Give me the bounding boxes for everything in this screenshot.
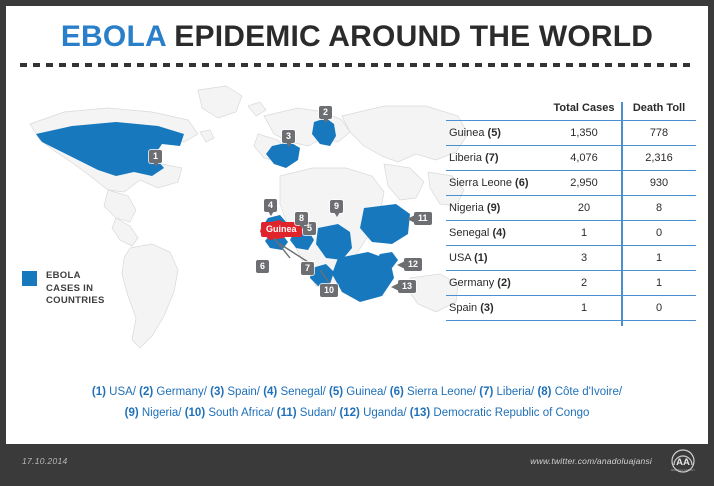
cell-total-cases: 2	[546, 271, 622, 296]
country-drc	[332, 252, 394, 302]
country-list-item-name-6: Sierra Leone/	[404, 386, 479, 398]
table-row: Spain (3)10	[446, 296, 696, 321]
country-list-item-num-6: (6)	[390, 386, 404, 398]
footer: 17.10.2014 www.twitter.com/anadoluajansi…	[6, 444, 708, 480]
legend-color-swatch	[22, 271, 37, 286]
table-row: Guinea (5)1,350778	[446, 121, 696, 146]
header: EBOLA EPIDEMIC AROUND THE WORLD	[6, 6, 708, 68]
country-list-line-2: (9) Nigeria/ (10) South Africa/ (11) Sud…	[26, 403, 688, 424]
statistics-table: Total Cases Death Toll Guinea (5)1,35077…	[446, 102, 696, 321]
map-marker-12[interactable]: 12	[404, 258, 422, 271]
cell-death-toll: 778	[622, 121, 696, 146]
logo-subtext: ANADOLU AGENCY	[671, 469, 695, 472]
country-list-item-name-2: South Africa/	[205, 407, 277, 419]
cell-country-index: (3)	[480, 302, 493, 314]
cell-total-cases: 20	[546, 196, 622, 221]
map-marker-3[interactable]: 3	[282, 130, 295, 143]
country-list-item-name-1: USA/	[106, 386, 139, 398]
table-vertical-divider	[621, 102, 623, 326]
legend-label: EBOLA CASES IN COUNTRIES	[46, 270, 105, 308]
country-list-item-name-4: Uganda/	[360, 407, 410, 419]
map-marker-8[interactable]: 8	[295, 212, 308, 225]
table-row: Senegal (4)10	[446, 221, 696, 246]
cell-country-index: (9)	[487, 202, 500, 214]
world-map: 1 2 3 4 Guinea 5 6 7 8 9 10 11 12 13	[12, 72, 472, 362]
country-list-item-num-7: (7)	[479, 386, 493, 398]
cell-death-toll: 8	[622, 196, 696, 221]
col-header-death-toll: Death Toll	[622, 102, 696, 121]
country-list-line-1: (1) USA/ (2) Germany/ (3) Spain/ (4) Sen…	[26, 382, 688, 403]
cell-country-index: (7)	[485, 152, 498, 164]
country-list-item-num-4: (12)	[339, 407, 359, 419]
table-head: Total Cases Death Toll	[446, 102, 696, 121]
country-list-item-name-1: Nigeria/	[139, 407, 185, 419]
legend-line-3: COUNTRIES	[46, 295, 105, 308]
legend-line-1: EBOLA	[46, 270, 105, 283]
anadolu-agency-logo: AA ANADOLU AGENCY	[668, 448, 698, 476]
cell-death-toll: 1	[622, 246, 696, 271]
cell-death-toll: 0	[622, 296, 696, 321]
infographic-poster: EBOLA EPIDEMIC AROUND THE WORLD	[0, 0, 714, 486]
country-list-item-num-5: (13)	[410, 407, 430, 419]
country-list-item-name-4: Senegal/	[277, 386, 329, 398]
country-list-item-num-8: (8)	[537, 386, 551, 398]
cell-death-toll: 0	[622, 221, 696, 246]
title-highlight: EBOLA	[61, 20, 166, 53]
cell-country: Nigeria (9)	[446, 196, 546, 221]
map-marker-9[interactable]: 9	[330, 200, 343, 213]
page-title: EBOLA EPIDEMIC AROUND THE WORLD	[61, 20, 653, 54]
table-row: Liberia (7)4,0762,316	[446, 146, 696, 171]
col-header-country	[446, 102, 546, 121]
cell-total-cases: 3	[546, 246, 622, 271]
dashed-divider	[20, 63, 694, 67]
world-map-svg	[12, 72, 472, 362]
cell-country: Senegal (4)	[446, 221, 546, 246]
table-row: Germany (2)21	[446, 271, 696, 296]
country-list-item-num-1: (9)	[125, 407, 139, 419]
cell-country: Spain (3)	[446, 296, 546, 321]
cell-death-toll: 2,316	[622, 146, 696, 171]
cell-total-cases: 4,076	[546, 146, 622, 171]
legend: EBOLA CASES IN COUNTRIES	[22, 270, 105, 308]
map-marker-11[interactable]: 11	[414, 212, 432, 225]
cell-country: USA (1)	[446, 246, 546, 271]
cell-country-index: (2)	[497, 277, 510, 289]
map-marker-10[interactable]: 10	[320, 284, 338, 297]
country-list-item-num-2: (10)	[185, 407, 205, 419]
table-row: USA (1)31	[446, 246, 696, 271]
legend-line-2: CASES IN	[46, 283, 105, 296]
table-row: Sierra Leone (6)2,950930	[446, 171, 696, 196]
map-marker-13[interactable]: 13	[398, 280, 416, 293]
twitter-handle[interactable]: www.twitter.com/anadoluajansi	[530, 456, 652, 466]
cell-total-cases: 2,950	[546, 171, 622, 196]
country-list-item-name-3: Spain/	[224, 386, 263, 398]
country-index-list: (1) USA/ (2) Germany/ (3) Spain/ (4) Sen…	[26, 382, 688, 424]
cell-country-index: (5)	[488, 127, 501, 139]
cell-death-toll: 930	[622, 171, 696, 196]
col-header-total-cases: Total Cases	[546, 102, 622, 121]
country-list-item-name-5: Guinea/	[343, 386, 390, 398]
country-list-item-num-2: (2)	[139, 386, 153, 398]
cell-death-toll: 1	[622, 271, 696, 296]
map-marker-4[interactable]: 4	[264, 199, 277, 212]
country-list-item-name-3: Sudan/	[297, 407, 340, 419]
table-row: Nigeria (9)208	[446, 196, 696, 221]
cell-country: Germany (2)	[446, 271, 546, 296]
country-list-item-num-3: (3)	[210, 386, 224, 398]
country-list-item-name-2: Germany/	[153, 386, 210, 398]
table-body: Guinea (5)1,350778Liberia (7)4,0762,316S…	[446, 121, 696, 321]
cell-country-index: (6)	[515, 177, 528, 189]
cell-country-index: (4)	[492, 227, 505, 239]
country-list-item-num-5: (5)	[329, 386, 343, 398]
map-marker-2[interactable]: 2	[319, 106, 332, 119]
publication-date: 17.10.2014	[22, 456, 68, 466]
title-rest: EPIDEMIC AROUND THE WORLD	[166, 20, 653, 53]
ebola-stats-table: Total Cases Death Toll Guinea (5)1,35077…	[446, 102, 696, 321]
country-list-item-name-7: Liberia/	[493, 386, 537, 398]
map-marker-1[interactable]: 1	[149, 150, 162, 163]
cell-country: Sierra Leone (6)	[446, 171, 546, 196]
map-marker-7[interactable]: 7	[301, 262, 314, 275]
country-list-item-num-1: (1)	[92, 386, 106, 398]
country-usa	[36, 122, 184, 176]
cell-country: Liberia (7)	[446, 146, 546, 171]
country-list-item-num-3: (11)	[277, 407, 297, 419]
cell-country-index: (1)	[474, 252, 487, 264]
cell-total-cases: 1	[546, 296, 622, 321]
map-marker-6[interactable]: 6	[256, 260, 269, 273]
table-header-row: Total Cases Death Toll	[446, 102, 696, 121]
logo-text: AA	[676, 457, 690, 468]
country-list-item-name-5: Democratic Republic of Congo	[430, 407, 589, 419]
cell-total-cases: 1	[546, 221, 622, 246]
cell-total-cases: 1,350	[546, 121, 622, 146]
country-list-item-name-8: Côte d'Ivoire/	[552, 386, 623, 398]
cell-country: Guinea (5)	[446, 121, 546, 146]
country-list-item-num-4: (4)	[263, 386, 277, 398]
country-sudan	[360, 204, 410, 244]
